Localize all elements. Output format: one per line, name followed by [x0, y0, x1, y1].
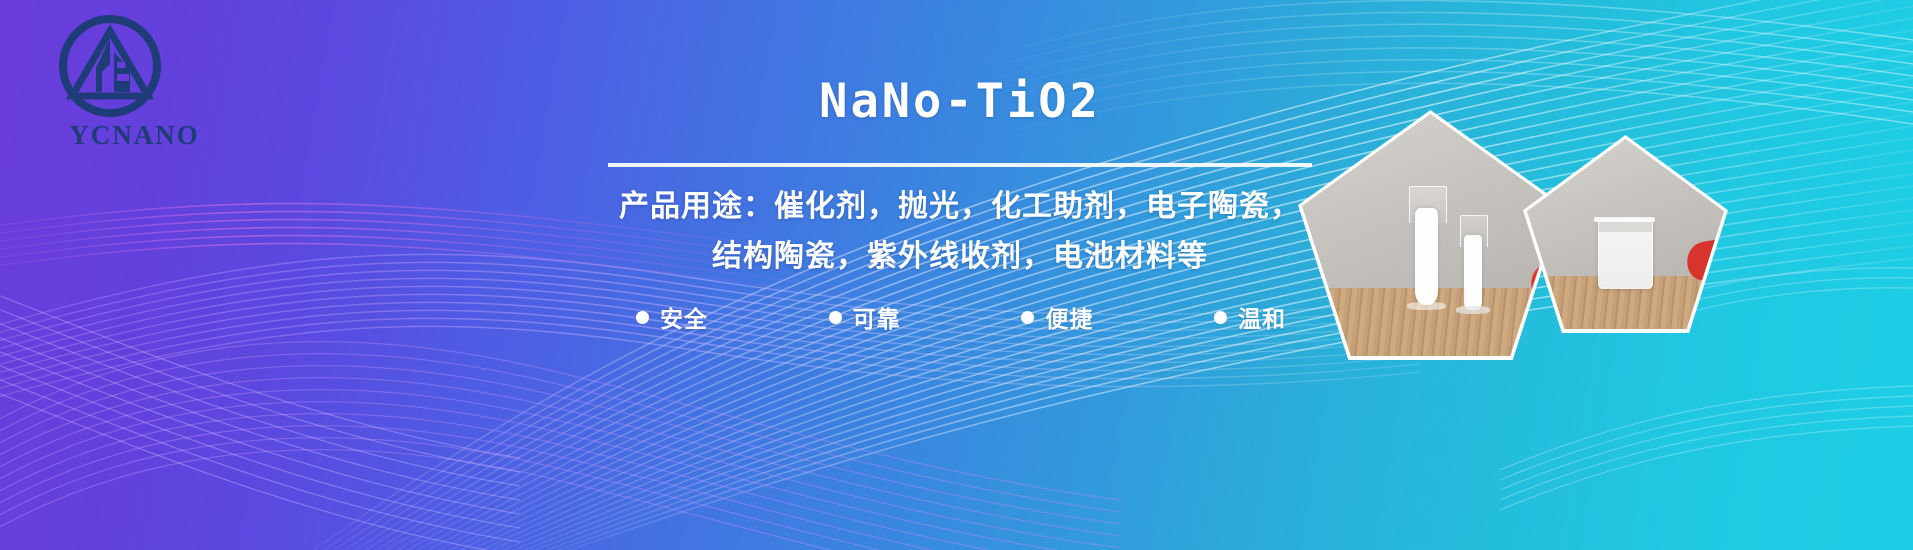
photo-wooden-table [1302, 288, 1559, 356]
feature-item-mild: 温和 [1214, 300, 1286, 334]
product-photo-beaker [1523, 135, 1728, 333]
pentagon-frame [1523, 135, 1728, 333]
logo-wordmark: YCNANO [42, 120, 227, 151]
feature-item-convenient: 便捷 [1021, 300, 1093, 334]
red-decor-object [1684, 239, 1724, 282]
white-vase-small [1464, 235, 1482, 310]
product-photo-vases [1298, 110, 1563, 360]
white-vase-large [1415, 208, 1438, 305]
banner-content: NaNo-TiO2 产品用途：催化剂，抛光，化工助剂，电子陶瓷， 结构陶瓷，紫外… [600, 0, 1320, 550]
feature-item-safe: 安全 [636, 300, 708, 334]
product-usage-line-2: 结构陶瓷，紫外线收剂，电池材料等 [600, 231, 1320, 275]
feature-label: 便捷 [1045, 300, 1093, 334]
pentagon-frame [1298, 110, 1563, 360]
title-divider [608, 163, 1312, 167]
page-title: NaNo-TiO2 [600, 74, 1320, 129]
pentagon-photo-content [1527, 139, 1724, 329]
feature-item-reliable: 可靠 [829, 300, 901, 334]
pentagon-photo-content [1302, 114, 1559, 356]
circle-triangle-mountain-logo-icon [56, 12, 164, 120]
feature-list: 安全 可靠 便捷 温和 [636, 300, 1286, 334]
company-logo[interactable]: YCNANO [42, 12, 232, 152]
photo-wall-background [1302, 114, 1559, 288]
dot-icon [636, 311, 649, 324]
glass-tube-icon [1460, 215, 1488, 247]
feature-label: 可靠 [853, 300, 901, 334]
dot-icon [829, 311, 842, 324]
red-decor-object [1527, 261, 1559, 307]
vase-base [1456, 306, 1489, 313]
photo-wooden-table [1527, 276, 1724, 329]
dot-icon [1214, 311, 1227, 324]
photo-wall-background [1527, 139, 1724, 276]
feature-label: 温和 [1238, 300, 1286, 334]
product-banner: YCNANO NaNo-TiO2 产品用途：催化剂，抛光，化工助剂，电子陶瓷， … [0, 0, 1913, 550]
glass-tube-icon [1409, 186, 1447, 223]
beaker-rim [1594, 217, 1655, 222]
vase-base [1407, 302, 1446, 310]
feature-label: 安全 [660, 300, 708, 334]
dot-icon [1021, 311, 1034, 324]
beaker-with-white-slurry [1598, 219, 1653, 289]
product-usage-line-1: 产品用途：催化剂，抛光，化工助剂，电子陶瓷， [600, 181, 1320, 225]
